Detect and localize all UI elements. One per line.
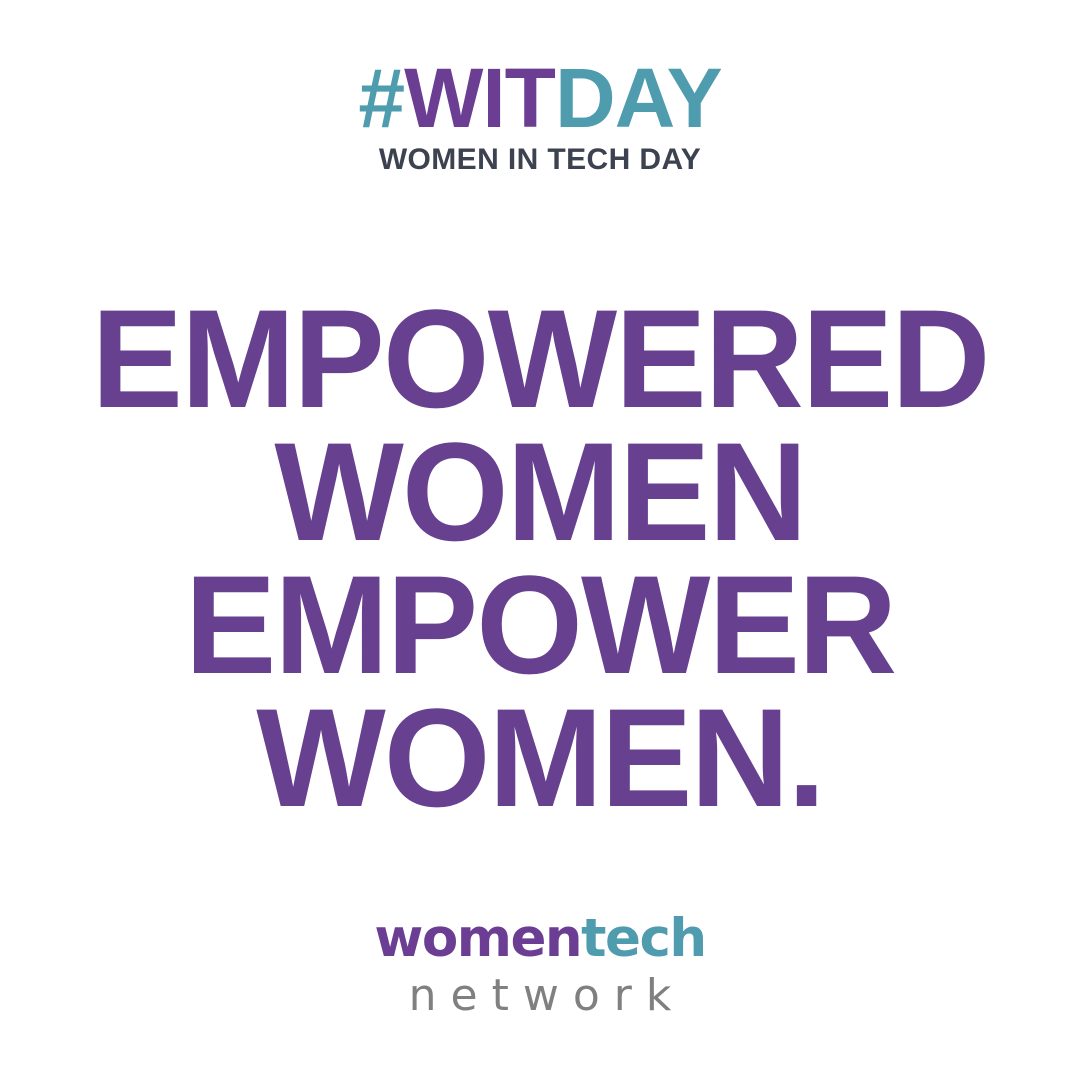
logo-women-text: women	[374, 912, 581, 965]
headline-line-4: WOMEN.	[11, 691, 1069, 824]
womentech-wordmark: womentech	[374, 912, 705, 965]
headline-line-2: WOMEN	[11, 425, 1069, 558]
witday-wordmark: #WITDAY	[358, 62, 721, 134]
poster-canvas: #WITDAY WOMEN IN TECH DAY EMPOWERED WOME…	[0, 0, 1080, 1080]
logo-tech-text: tech	[581, 912, 705, 965]
hash-symbol: #	[358, 62, 404, 134]
witday-logo-lockup: #WITDAY WOMEN IN TECH DAY	[0, 62, 1080, 177]
headline-block: EMPOWERED WOMEN EMPOWER WOMEN.	[0, 292, 1080, 824]
headline-line-3: EMPOWER	[11, 558, 1069, 691]
headline-line-1: EMPOWERED	[11, 292, 1069, 425]
witday-subtitle: WOMEN IN TECH DAY	[379, 143, 701, 177]
logo-network-text: network	[395, 974, 686, 1018]
witday-wit-text: WIT	[404, 62, 555, 134]
witday-day-text: DAY	[555, 62, 722, 134]
womentech-network-logo: womentech network	[0, 912, 1080, 1018]
